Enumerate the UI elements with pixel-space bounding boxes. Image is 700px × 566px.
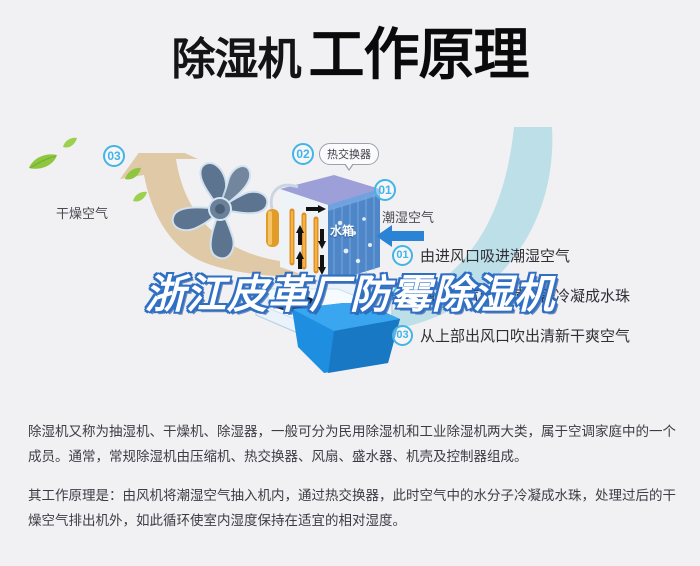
poster-root: 除湿机工作原理 <box>0 0 700 566</box>
label-dry-air: 干燥空气 <box>56 203 108 222</box>
body-paragraph-1: 除湿机又称为抽湿机、干燥机、除湿器，一般可分为民用除湿机和工业除湿机两大类，属于… <box>28 420 678 470</box>
badge-moist-air: 01 <box>374 179 396 201</box>
leaf-icon <box>132 191 148 203</box>
legend-badge-03: 03 <box>392 325 413 346</box>
callout-heat-exchanger: 热交换器 <box>319 143 379 165</box>
label-water-tank: 水箱 <box>330 222 354 239</box>
page-title-part2: 工作原理 <box>309 23 529 88</box>
page-title: 除湿机工作原理 <box>0 28 700 84</box>
label-moist-air: 潮湿空气 <box>382 207 434 226</box>
watermark-text: 浙江皮革厂防霉除湿机 <box>0 262 700 320</box>
page-title-part1: 除湿机 <box>172 34 301 85</box>
legend-item: 03 从上部出风口吹出清新干爽空气 <box>392 324 692 346</box>
body-paragraph-2: 其工作原理是：由风机将潮湿空气抽入机内，通过热交换器，此时空气中的水分子冷凝成水… <box>28 484 678 534</box>
legend-text-03: 从上部出风口吹出清新干爽空气 <box>420 325 630 346</box>
badge-heat-exchanger: 02 <box>292 143 314 165</box>
leaf-icon <box>62 137 78 149</box>
leaf-icon <box>28 153 58 171</box>
leaf-icon <box>124 167 142 181</box>
badge-dry-air: 03 <box>103 145 125 167</box>
body-copy: 除湿机又称为抽湿机、干燥机、除湿器，一般可分为民用除湿机和工业除湿机两大类，属于… <box>28 420 678 534</box>
